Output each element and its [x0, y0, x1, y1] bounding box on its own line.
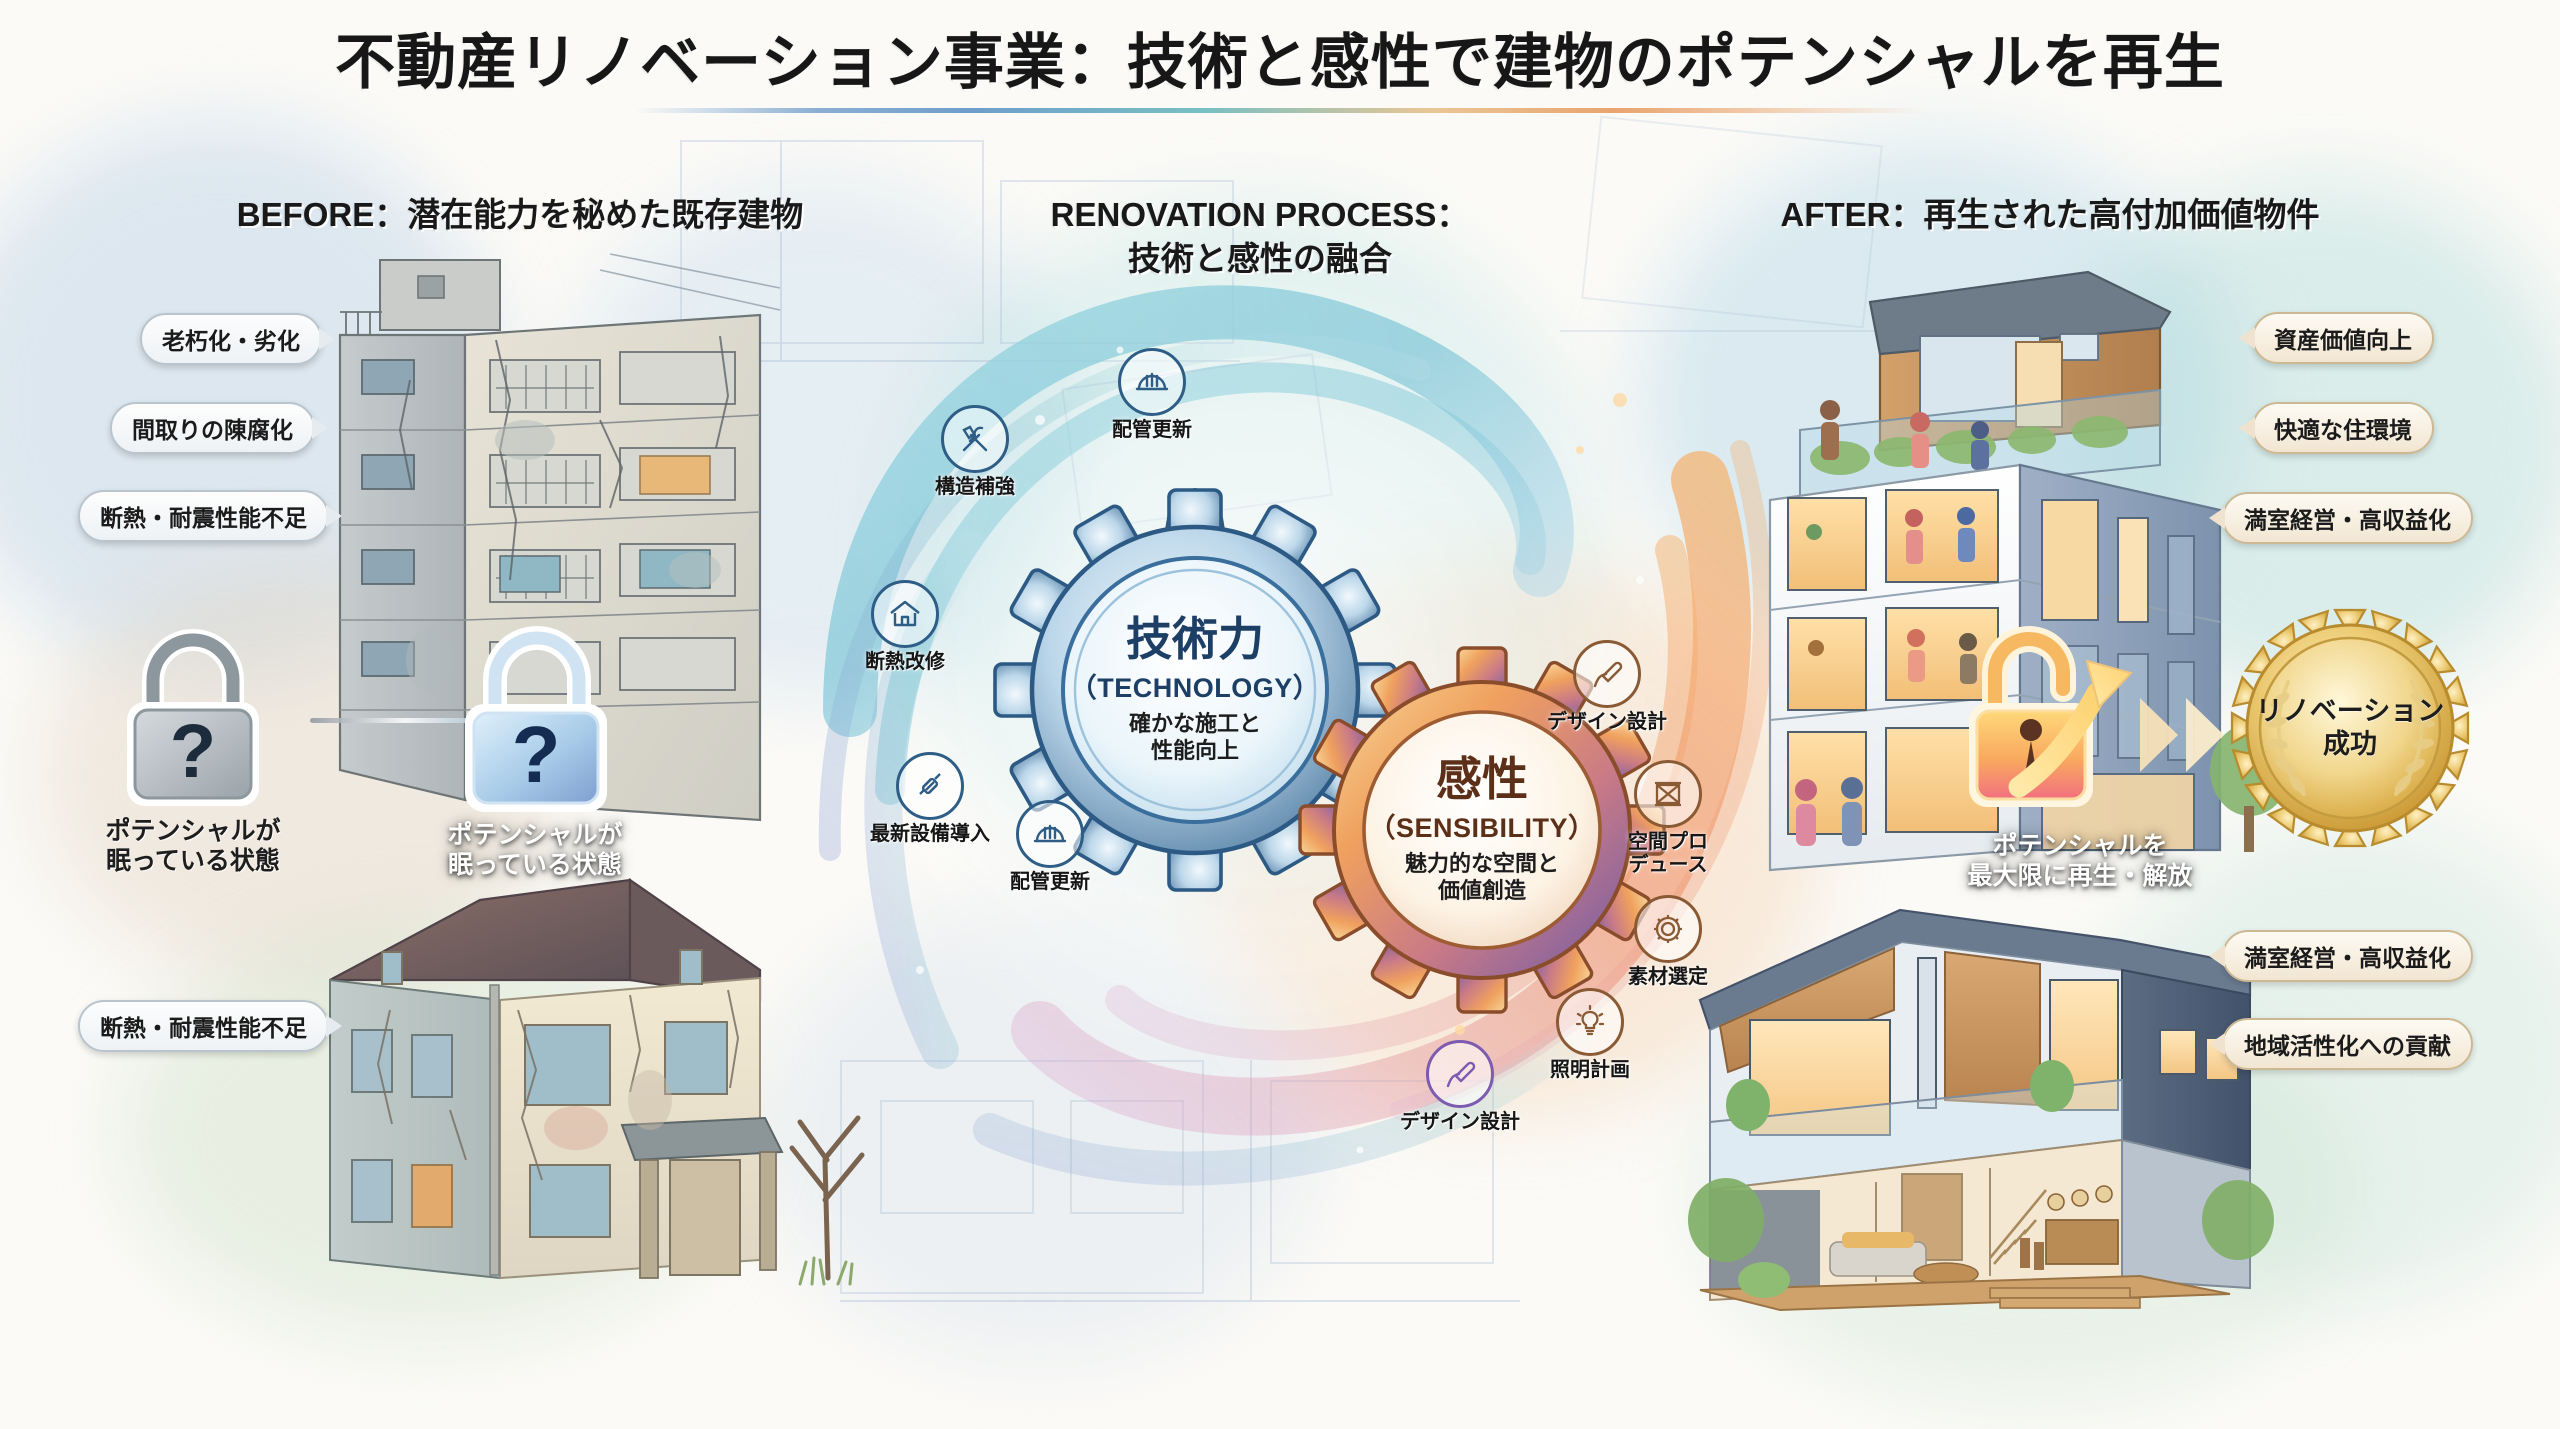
after-house-illustration: [1690, 890, 2270, 1310]
satellite-tech-structural[interactable]: 構造補強: [900, 405, 1050, 499]
pill-tail: [2239, 417, 2255, 439]
satellite-label: 配管更新: [1077, 419, 1227, 442]
bulb-icon: [1556, 988, 1624, 1056]
house-icon: [871, 580, 939, 648]
pill-label: 間取りの陳腐化: [132, 411, 293, 445]
lock-blue-group: ? ポテンシャルが 眠っている状態: [410, 618, 660, 880]
satellite-label: 構造補強: [900, 476, 1050, 499]
page-title: 不動産リノベーション事業：技術と感性で建物のポテンシャルを再生: [335, 14, 2225, 101]
after-tag-comfort[interactable]: 快適な住環境: [2252, 402, 2434, 454]
pill-label: 満室経営・高収益化: [2244, 939, 2451, 973]
success-badge[interactable]: リノベーション 成功: [2230, 608, 2470, 848]
frame-icon: [1634, 760, 1702, 828]
success-badge-line1: リノベーション: [2256, 695, 2444, 728]
satellite-label: デザイン設計: [1532, 711, 1682, 734]
lock-closed-blue-icon: ?: [447, 618, 623, 814]
pill-label: 地域活性化への貢献: [2244, 1027, 2451, 1061]
brush-icon: [1573, 640, 1641, 708]
helmet-icon: [1118, 348, 1186, 416]
lock-gray-caption: ポテンシャルが 眠っている状態: [78, 816, 308, 876]
infographic-canvas: 不動産リノベーション事業：技術と感性で建物のポテンシャルを再生 BEFORE：潜…: [0, 0, 2560, 1429]
satellite-sens-space-produce[interactable]: 空間プロ デュース: [1593, 760, 1743, 877]
satellite-sens-material[interactable]: 素材選定: [1593, 895, 1743, 989]
section-heading-process-ja: 技術と感性の融合: [860, 237, 1660, 281]
pill-label: 快適な住環境: [2274, 411, 2412, 445]
after-tag-occupancy[interactable]: 満室経営・高収益化: [2222, 492, 2473, 544]
gear-icon: [1634, 895, 1702, 963]
pill-label: 断熱・耐震性能不足: [100, 499, 307, 533]
svg-text:?: ?: [512, 710, 561, 799]
before-house-illustration: [330, 860, 890, 1290]
satellite-label: 素材選定: [1593, 966, 1743, 989]
pill-tail: [319, 328, 335, 350]
after-tag-occupancy-2[interactable]: 満室経営・高収益化: [2222, 930, 2473, 982]
pill-label: 満室経営・高収益化: [2244, 501, 2451, 535]
satellite-label: デザイン設計: [1385, 1111, 1535, 1134]
pill-tail: [2209, 507, 2225, 529]
title-divider: [635, 108, 1925, 113]
lock-blue-caption: ポテンシャルが 眠っている状態: [410, 820, 660, 880]
pill-tail: [326, 505, 342, 527]
page-title-wrap: 不動産リノベーション事業：技術と感性で建物のポテンシャルを再生: [0, 14, 2560, 101]
helmet-icon: [1016, 800, 1084, 868]
before-tag-layout-obsolete[interactable]: 間取りの陳腐化: [110, 402, 315, 454]
satellite-label: 断熱改修: [830, 651, 980, 674]
pill-label: 断熱・耐震性能不足: [100, 1009, 307, 1043]
success-badge-line2: 成功: [2323, 728, 2377, 761]
pill-tail: [2239, 327, 2255, 349]
satellite-label: 空間プロ デュース: [1593, 831, 1743, 877]
lock-closed-gray-icon: ?: [111, 620, 275, 810]
pill-label: 資産価値向上: [2274, 321, 2412, 355]
pill-tail: [326, 1015, 342, 1037]
svg-text:?: ?: [170, 709, 216, 794]
satellite-label: 配管更新: [975, 871, 1125, 894]
pill-label: 老朽化・劣化: [162, 322, 300, 356]
satellite-sens-design-top[interactable]: デザイン設計: [1532, 640, 1682, 734]
before-tag-deterioration[interactable]: 老朽化・劣化: [140, 313, 322, 365]
satellite-sens-lighting[interactable]: 照明計画: [1515, 988, 1665, 1082]
lock-gray-group: ? ポテンシャルが 眠っている状態: [78, 620, 308, 876]
pill-tail: [312, 417, 328, 439]
brush-icon: [1426, 1040, 1494, 1108]
satellite-tech-piping-top[interactable]: 配管更新: [1077, 348, 1227, 442]
after-tag-asset-value[interactable]: 資産価値向上: [2252, 312, 2434, 364]
success-badge-text: リノベーション 成功: [2230, 608, 2470, 848]
satellite-tech-insulation[interactable]: 断熱改修: [830, 580, 980, 674]
after-tag-community[interactable]: 地域活性化への貢献: [2222, 1018, 2473, 1070]
section-heading-after: AFTER：再生された高付加価値物件: [1540, 193, 2560, 237]
tools-icon: [941, 405, 1009, 473]
pill-tail: [2209, 1033, 2225, 1055]
satellite-tech-piping-bottom[interactable]: 配管更新: [975, 800, 1125, 894]
lock-unlocked-caption: ポテンシャルを 最大限に再生・解放: [1930, 831, 2230, 891]
satellite-sens-design-bottom[interactable]: デザイン設計: [1385, 1040, 1535, 1134]
satellite-label: 照明計画: [1515, 1059, 1665, 1082]
before-tag-insulation-seismic-2[interactable]: 断熱・耐震性能不足: [78, 1000, 329, 1052]
bolt-icon: [896, 752, 964, 820]
pill-tail: [2209, 945, 2225, 967]
before-tag-insulation-seismic[interactable]: 断熱・耐震性能不足: [78, 490, 329, 542]
